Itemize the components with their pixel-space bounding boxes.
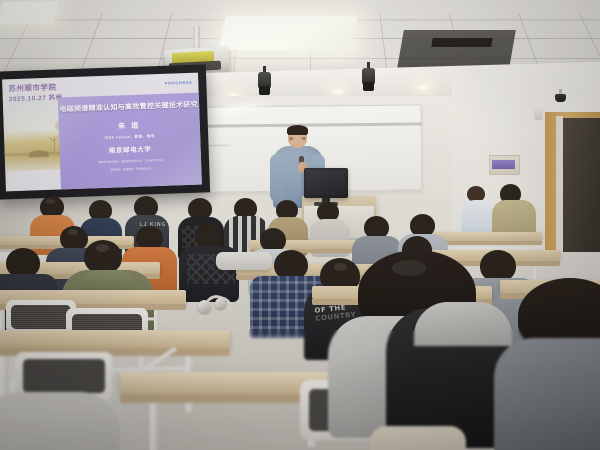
lecture-room-photo: 苏州顺市学院 2025.10.27 苏州 PROGRESS 电磁频谱精准认知与高… [0,0,600,450]
slide-speaker-name: 朱 琨 [59,119,200,134]
slide-logo: PROGRESS [165,80,193,86]
slide-title: 电磁频谱精准认知与高效管控关键技术研究 [58,100,199,115]
wall-panel-display[interactable] [492,160,515,169]
ceiling-light-panel-left [0,2,59,24]
glasses-icon [290,137,305,140]
monitor-screen [306,170,346,195]
wall-speaker [534,107,543,120]
folded-jacket [216,252,272,270]
trousers [370,426,466,450]
ceiling-vent-slot [431,38,493,47]
downlight-3 [330,88,345,95]
slide-content-card: 电磁频谱精准认知与高效管控关键技术研究 朱 琨 IEEE Fellow、教授、博… [58,93,202,190]
ceiling-camera [555,94,566,102]
jacket-hood [80,270,136,290]
open-doorway [561,118,600,270]
headphones-icon [198,296,228,312]
hood [414,302,512,346]
door-leaf-edge [556,116,563,270]
presenter-hair [287,125,308,135]
ceiling-light-panel [218,16,357,50]
projection-screen: 苏州顺市学院 2025.10.27 苏州 PROGRESS 电磁频谱精准认知与高… [2,73,202,192]
slide-footnote-2: 频谱感知 · 智能管控 · 无线通信安全 [60,165,201,174]
slide-affiliation: 南京邮电大学 [59,142,200,157]
downlight-4 [416,84,431,91]
slide-speaker-roles: IEEE Fellow、教授、博导 [59,133,200,143]
slide-footnote-1: 国家自然科学基金 · 国家重点研发计划 · 江苏省重点项目 [60,157,201,166]
presenter-left-arm [270,154,284,202]
